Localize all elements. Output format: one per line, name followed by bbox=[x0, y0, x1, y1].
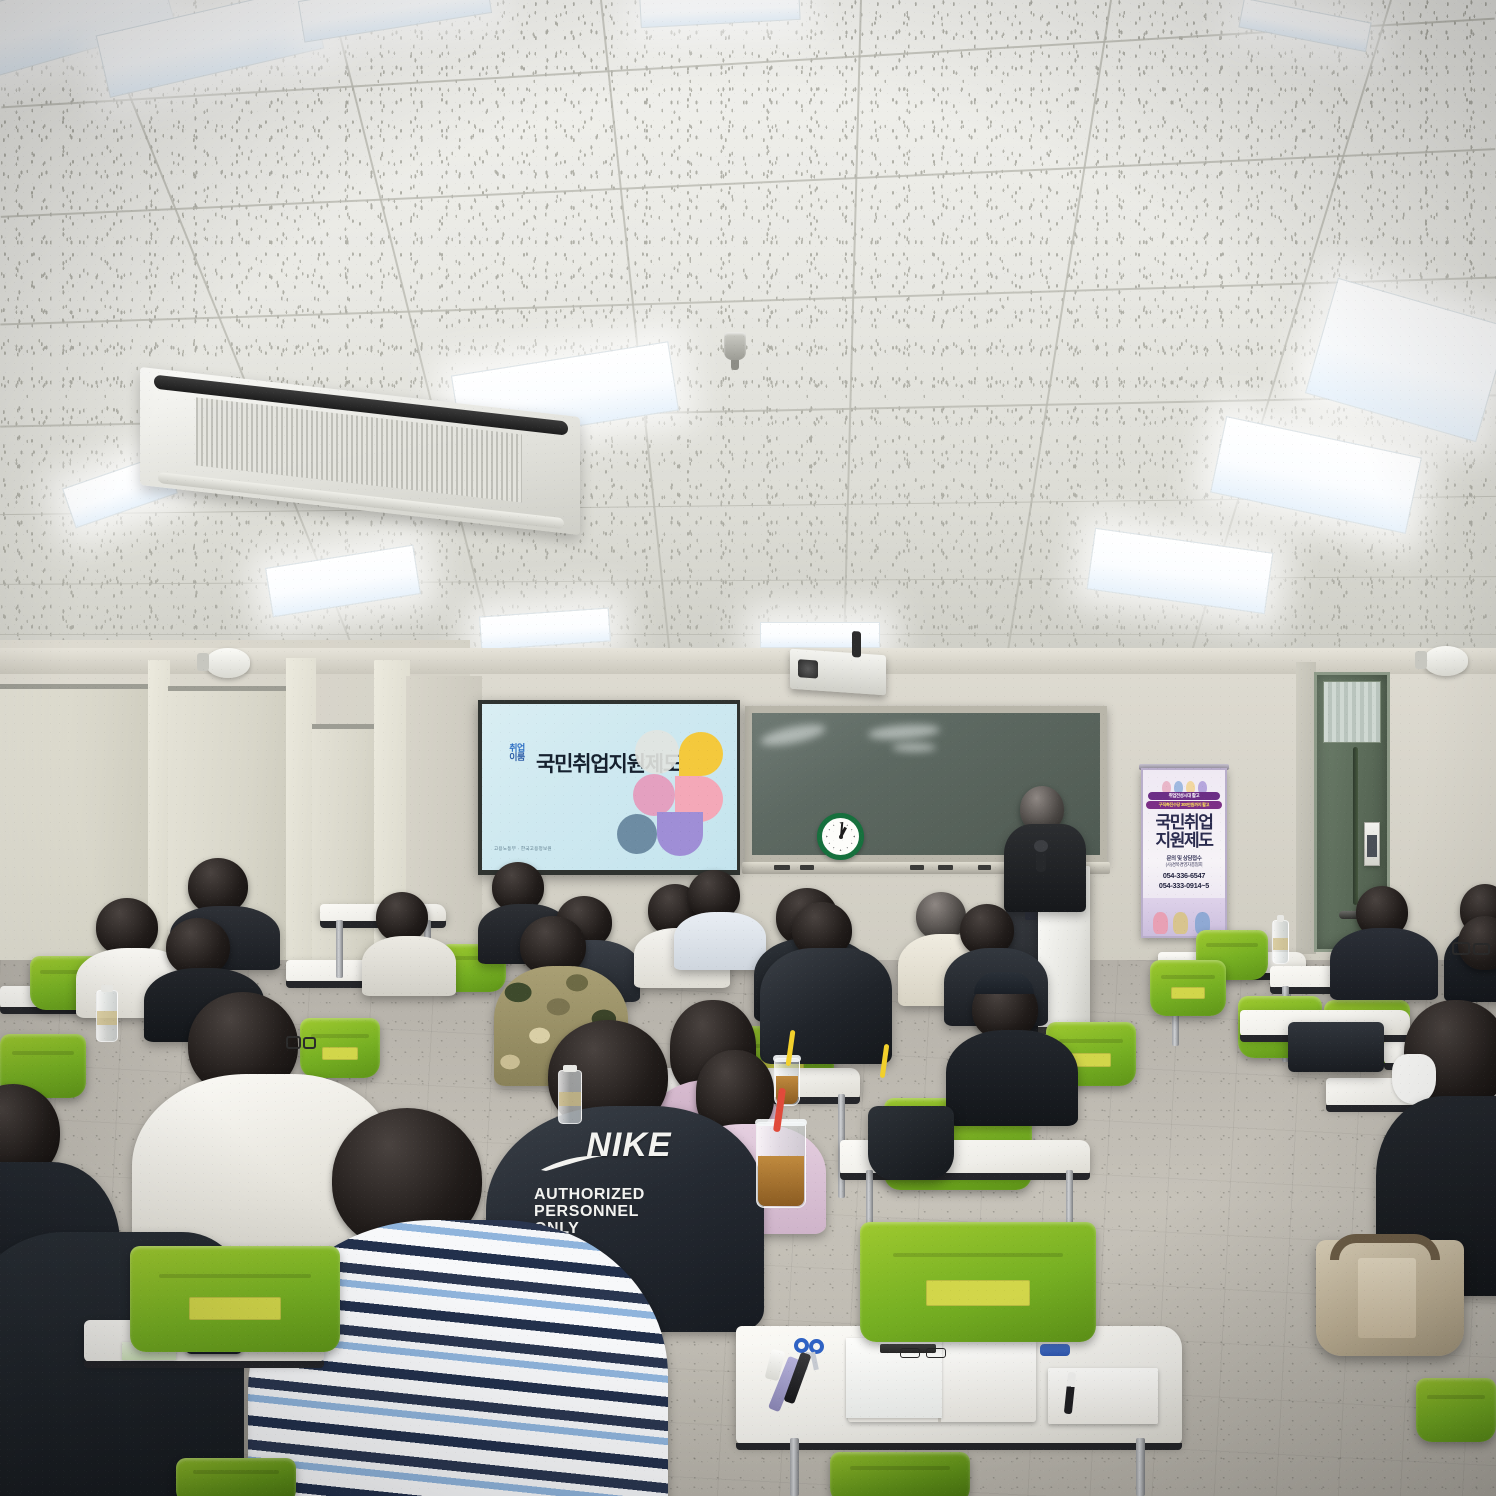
chair[interactable] bbox=[176, 1458, 296, 1496]
eyeglasses bbox=[1452, 942, 1492, 956]
iced-drink-cup bbox=[756, 1122, 806, 1208]
chair[interactable] bbox=[130, 1246, 340, 1352]
black-jacket bbox=[760, 948, 892, 1064]
wall-clock bbox=[817, 813, 864, 860]
ceiling-projector bbox=[790, 649, 886, 696]
slide-subtitle: 고용노동부 · 한국고용정보원 bbox=[494, 846, 552, 852]
projector-mount bbox=[852, 631, 861, 658]
banner-badge-second: 구직촉진수당 300만원까지 활고 bbox=[1146, 801, 1222, 809]
ceiling bbox=[0, 0, 1496, 700]
water-bottle bbox=[1272, 920, 1289, 964]
ceiling-light bbox=[760, 622, 880, 648]
projector-lens bbox=[798, 659, 818, 678]
door-push-bar[interactable] bbox=[1353, 747, 1358, 905]
graphic-circle-gray bbox=[635, 730, 679, 774]
door-frame bbox=[1296, 662, 1316, 954]
wall-speaker bbox=[206, 648, 250, 678]
door-frosted-glass bbox=[1323, 681, 1381, 743]
backpack bbox=[868, 1106, 954, 1180]
banner-title-line-1: 국민취업 bbox=[1143, 814, 1225, 832]
clock-center-pin bbox=[839, 835, 843, 839]
tote-bag bbox=[1316, 1240, 1464, 1356]
slide-graphic bbox=[617, 730, 729, 855]
banner-title-line-2: 지원제도 bbox=[1143, 832, 1225, 850]
lecture-hall-photo: 취업 이룸 국민취업지원제도 고용노동부 · 한국고용정보원 취업전성시대 활고… bbox=[0, 0, 1496, 1496]
banner-organization: (사)경북경영자총협회 bbox=[1143, 862, 1225, 868]
notepad bbox=[1048, 1368, 1158, 1424]
face-mask bbox=[1392, 1054, 1436, 1104]
graphic-shape-purple bbox=[657, 812, 703, 856]
graphic-circle-pink bbox=[633, 774, 675, 816]
logo-line-2: 이룸 bbox=[494, 753, 540, 762]
banner-phone-1: 054-336-6547 bbox=[1143, 871, 1225, 880]
chair[interactable] bbox=[860, 1222, 1096, 1342]
banner-title: 국민취업 지원제도 bbox=[1143, 814, 1225, 850]
water-bottle bbox=[96, 990, 118, 1042]
window-blind bbox=[312, 724, 380, 974]
baseball-cap bbox=[974, 972, 1034, 994]
graphic-circle-blue bbox=[617, 814, 657, 854]
projection-screen: 취업 이룸 국민취업지원제도 고용노동부 · 한국고용정보원 bbox=[478, 700, 740, 875]
chair[interactable] bbox=[830, 1452, 970, 1496]
eyeglasses bbox=[900, 1348, 954, 1358]
program-logo: 취업 이룸 bbox=[494, 744, 540, 778]
water-bottle bbox=[558, 1070, 582, 1124]
chair[interactable] bbox=[1416, 1378, 1496, 1442]
graphic-shape-yellow bbox=[679, 732, 723, 776]
laptop-bag bbox=[1288, 1022, 1384, 1072]
wall-speaker bbox=[1424, 646, 1468, 676]
wall-control-panel[interactable] bbox=[1364, 822, 1380, 866]
microphone-head bbox=[1034, 840, 1048, 852]
fire-sprinkler-head bbox=[724, 332, 746, 360]
banner-phone-2: 054-333-0914~5 bbox=[1143, 881, 1225, 890]
banner-badge-top: 취업전성시대 활고 bbox=[1148, 792, 1220, 800]
banner-illustration-people bbox=[1151, 772, 1217, 794]
chair[interactable] bbox=[1150, 960, 1226, 1016]
ceiling-tile-grid bbox=[0, 0, 1496, 700]
blue-stapler bbox=[1040, 1344, 1070, 1356]
presentation-slide: 취업 이룸 국민취업지원제도 고용노동부 · 한국고용정보원 bbox=[482, 704, 737, 870]
banner-subtitle: 문의 및 상담접수 bbox=[1143, 854, 1225, 862]
roll-up-banner: 취업전성시대 활고 구직촉진수당 300만원까지 활고 국민취업 지원제도 문의… bbox=[1141, 768, 1227, 938]
eyeglasses bbox=[286, 1036, 316, 1054]
